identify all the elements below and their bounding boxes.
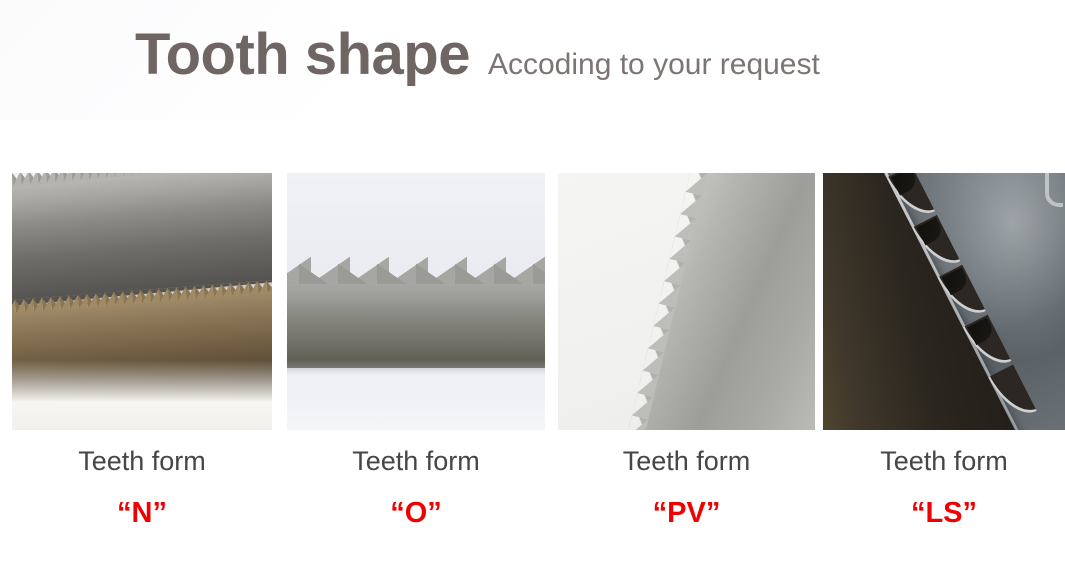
page-subtitle: Accoding to your request [488, 50, 820, 80]
gallery-item-o[interactable] [287, 173, 545, 430]
caption-code: “N” [12, 496, 272, 530]
teeth-row-stepped [614, 173, 729, 430]
hook-tooth [988, 365, 1037, 424]
caption-label: Teeth form [12, 444, 272, 478]
blade-diagonal-silver [630, 173, 815, 430]
caption-code: “LS” [823, 496, 1065, 530]
gallery-item-pv[interactable] [558, 173, 815, 430]
gallery-item-n[interactable] [12, 173, 272, 430]
gallery-captions: Teeth form “N” Teeth form “O” Teeth form… [0, 444, 1065, 554]
caption-pv: Teeth form “PV” [558, 444, 815, 530]
caption-o: Teeth form “O” [287, 444, 545, 530]
blade-gray-hooked [287, 283, 545, 368]
saw-blade-photo-ls [823, 173, 1065, 430]
page-header: Tooth shape Accoding to your request [0, 26, 1065, 98]
saw-blade-photo-o [287, 173, 545, 430]
caption-label: Teeth form [823, 444, 1065, 478]
caption-ls: Teeth form “LS” [823, 444, 1065, 530]
background-pipe [1045, 173, 1063, 207]
page-title: Tooth shape [135, 26, 470, 84]
photo-surface-shadow [12, 360, 272, 430]
tooth-shape-gallery [0, 173, 1065, 430]
caption-label: Teeth form [558, 444, 815, 478]
gallery-item-ls[interactable] [823, 173, 1065, 430]
saw-blade-photo-n [12, 173, 272, 430]
caption-n: Teeth form “N” [12, 444, 272, 530]
caption-label: Teeth form [287, 444, 545, 478]
caption-code: “O” [287, 496, 545, 530]
caption-code: “PV” [558, 496, 815, 530]
saw-blade-photo-pv [558, 173, 815, 430]
teeth-row-hook [287, 257, 545, 284]
photo-background-lower [287, 360, 545, 430]
teeth-row-fine-upper [12, 173, 272, 190]
